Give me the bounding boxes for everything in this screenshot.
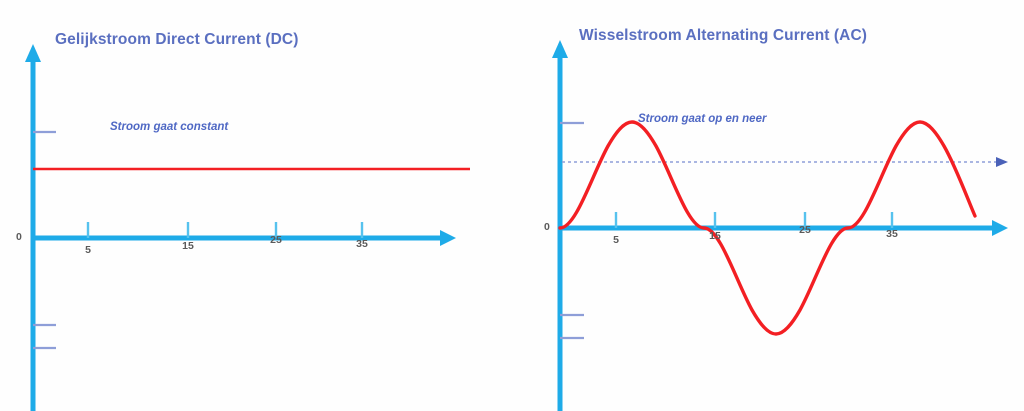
chart-panel-dc: Gelijkstroom Direct Current (DC) Stroom … xyxy=(0,0,512,411)
x-axis-arrow-dc xyxy=(440,230,456,246)
chart-plot-ac xyxy=(512,0,1024,411)
x-tick-label-dc-35: 35 xyxy=(352,238,372,250)
x-tick-label-ac-15: 15 xyxy=(705,230,725,242)
x-tick-label-ac-25: 25 xyxy=(795,224,815,236)
y-axis-arrow-dc xyxy=(25,44,41,62)
x-tick-label-dc-25: 25 xyxy=(266,234,286,246)
figure-canvas: Gelijkstroom Direct Current (DC) Stroom … xyxy=(0,0,1024,411)
y-axis-arrow-ac xyxy=(552,40,568,58)
x-tick-label-ac-5: 5 xyxy=(606,234,626,246)
chart-plot-dc xyxy=(0,0,512,411)
x-tick-label-ac-35: 35 xyxy=(882,228,902,240)
x-tick-label-dc-15: 15 xyxy=(178,240,198,252)
origin-label-dc: 0 xyxy=(16,231,22,243)
x-axis-arrow-ac xyxy=(992,220,1008,236)
origin-label-ac: 0 xyxy=(544,221,550,233)
chart-panel-ac: Wisselstroom Alternating Current (AC) St… xyxy=(512,0,1024,411)
ac-reference-arrow xyxy=(996,157,1008,167)
x-tick-label-dc-5: 5 xyxy=(78,244,98,256)
